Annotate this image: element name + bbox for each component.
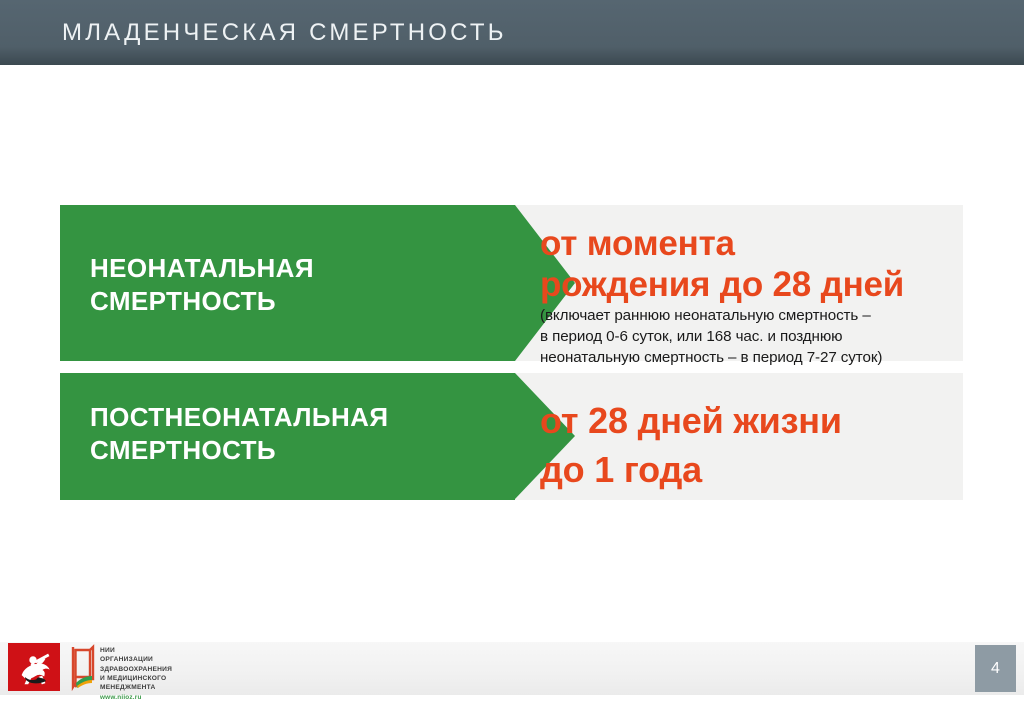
logo-line: ЗДРАВООХРАНЕНИЯ bbox=[100, 665, 172, 674]
arrow-label-neonatal: НЕОНАТАЛЬНАЯ СМЕРТНОСТЬ bbox=[90, 252, 314, 319]
slide-header-bar: МЛАДЕНЧЕСКАЯ СМЕРТНОСТЬ bbox=[0, 0, 1024, 65]
arrow-label-postneonatal: ПОСТНЕОНАТАЛЬНАЯ СМЕРТНОСТЬ bbox=[90, 401, 388, 468]
page-title: МЛАДЕНЧЕСКАЯ СМЕРТНОСТЬ bbox=[62, 19, 507, 47]
headline-neonatal: от момента рождения до 28 дней bbox=[540, 224, 904, 306]
saint-george-rider-icon bbox=[8, 643, 60, 691]
logo-line: И МЕДИЦИНСКОГО bbox=[100, 674, 172, 683]
row-right-column: от 28 дней жизни до 1 года bbox=[540, 373, 963, 500]
definition-row-postneonatal: ПОСТНЕОНАТАЛЬНАЯ СМЕРТНОСТЬ от 28 дней ж… bbox=[60, 373, 963, 500]
logo-line: ОРГАНИЗАЦИИ bbox=[100, 655, 172, 664]
organization-logo: НИИ ОРГАНИЗАЦИИ ЗДРАВООХРАНЕНИЯ И МЕДИЦИ… bbox=[8, 643, 172, 691]
headline-postneonatal: от 28 дней жизни до 1 года bbox=[540, 397, 842, 494]
subtext-neonatal: (включает раннюю неонатальную смертность… bbox=[540, 306, 882, 369]
page-number-badge: 4 bbox=[975, 645, 1016, 692]
logo-website-url: www.niioz.ru bbox=[100, 694, 172, 701]
definition-row-neonatal: НЕОНАТАЛЬНАЯ СМЕРТНОСТЬ от момента рожде… bbox=[60, 205, 963, 361]
row-right-column: от момента рождения до 28 дней (включает… bbox=[540, 205, 963, 361]
logo-text-block: НИИ ОРГАНИЗАЦИИ ЗДРАВООХРАНЕНИЯ И МЕДИЦИ… bbox=[100, 643, 172, 701]
logo-line: МЕНЕДЖМЕНТА bbox=[100, 683, 172, 692]
niioz-book-mark-icon bbox=[70, 643, 96, 691]
logo-line: НИИ bbox=[100, 646, 172, 655]
moscow-coat-of-arms-icon bbox=[8, 643, 60, 691]
